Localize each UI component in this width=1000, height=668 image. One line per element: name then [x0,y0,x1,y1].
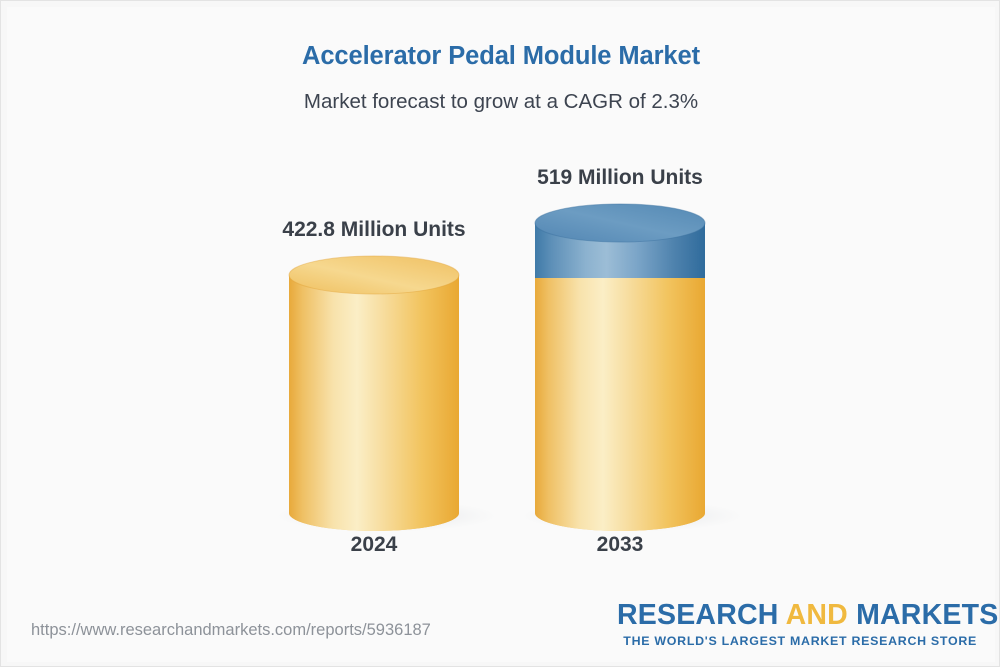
research-and-markets-logo[interactable]: RESEARCH AND MARKETS THE WORLD'S LARGEST… [617,601,977,648]
bar-2033-base-body [535,278,705,531]
chart-canvas: Accelerator Pedal Module Market Market f… [0,0,1000,667]
category-label-2024: 2024 [289,533,459,557]
logo-markets-text: MARKETS [848,599,998,631]
logo-wordmark: RESEARCH AND MARKETS [617,601,977,630]
value-label-2024: 422.8 Million Units [191,218,557,242]
logo-research-text: RESEARCH [617,599,786,631]
logo-and-text: AND [786,599,848,631]
bar-2033[interactable] [535,204,705,531]
report-url[interactable]: https://www.researchandmarkets.com/repor… [31,621,431,640]
value-label-2033: 519 Million Units [437,166,803,190]
bar-2024[interactable] [289,256,459,531]
plot-area: 422.8 Million Units 519 Million Units 20… [1,1,1000,668]
logo-tagline: THE WORLD'S LARGEST MARKET RESEARCH STOR… [617,634,977,648]
category-label-2033: 2033 [535,533,705,557]
cylinder-bars [1,1,1000,668]
bar-2024-body [289,275,459,531]
